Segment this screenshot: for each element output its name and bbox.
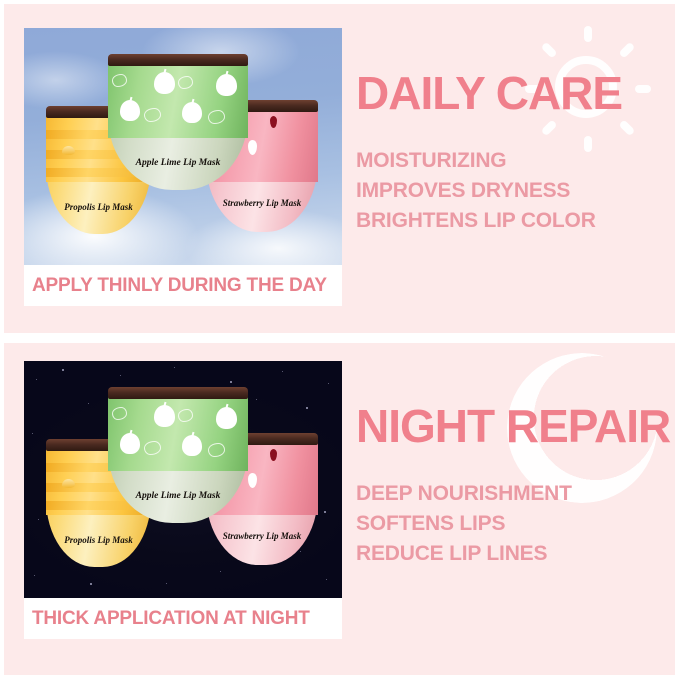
benefit-item: BRIGHTENS LIP COLOR: [356, 206, 668, 236]
benefit-item: DEEP NOURISHMENT: [356, 479, 668, 509]
jar-product-name: Strawberry Lip Mask: [206, 198, 318, 208]
jar-product-name: Apple Lime Lip Mask: [108, 158, 248, 168]
jar-product-name: Strawberry Lip Mask: [206, 531, 318, 541]
jar-product-name: Propolis Lip Mask: [46, 535, 151, 545]
jar-lid: [108, 387, 248, 399]
jar-group-night: Propolis Lip Mask Strawberry Lip Mask: [24, 361, 342, 598]
caption-text: THICK APPLICATION AT NIGHT: [32, 608, 310, 630]
benefit-item: IMPROVES DRYNESS: [356, 176, 668, 206]
benefit-item: SOFTENS LIPS: [356, 509, 668, 539]
benefit-list-day: MOISTURIZING IMPROVES DRYNESS BRIGHTENS …: [356, 146, 668, 235]
jar-label-band: [108, 64, 248, 138]
product-photo-card-day: Propolis Lip Mask Strawberry Lip Mask: [24, 28, 342, 306]
product-photo-night: Propolis Lip Mask Strawberry Lip Mask: [24, 361, 342, 598]
jar-label-band: [108, 397, 248, 471]
caption-bar-night: THICK APPLICATION AT NIGHT: [24, 598, 342, 639]
panel-night-repair: Propolis Lip Mask Strawberry Lip Mask: [4, 343, 675, 675]
jar-lid: [108, 54, 248, 66]
benefit-list-night: DEEP NOURISHMENT SOFTENS LIPS REDUCE LIP…: [356, 479, 668, 568]
product-photo-day: Propolis Lip Mask Strawberry Lip Mask: [24, 28, 342, 265]
caption-bar-day: APPLY THINLY DURING THE DAY: [24, 265, 342, 306]
caption-text: APPLY THINLY DURING THE DAY: [32, 275, 327, 297]
benefit-item: REDUCE LIP LINES: [356, 539, 668, 569]
jar-group-day: Propolis Lip Mask Strawberry Lip Mask: [24, 28, 342, 265]
product-photo-card-night: Propolis Lip Mask Strawberry Lip Mask: [24, 361, 342, 639]
text-column-night: NIGHT REPAIR DEEP NOURISHMENT SOFTENS LI…: [356, 403, 668, 568]
panel-title: NIGHT REPAIR: [356, 403, 668, 449]
text-column-day: DAILY CARE MOISTURIZING IMPROVES DRYNESS…: [356, 70, 668, 235]
jar-product-name: Propolis Lip Mask: [46, 202, 151, 212]
panel-daily-care: Propolis Lip Mask Strawberry Lip Mask: [4, 4, 675, 333]
benefit-item: MOISTURIZING: [356, 146, 668, 176]
panel-title: DAILY CARE: [356, 70, 668, 116]
infographic-page: Propolis Lip Mask Strawberry Lip Mask: [0, 0, 679, 679]
jar-product-name: Apple Lime Lip Mask: [108, 491, 248, 501]
